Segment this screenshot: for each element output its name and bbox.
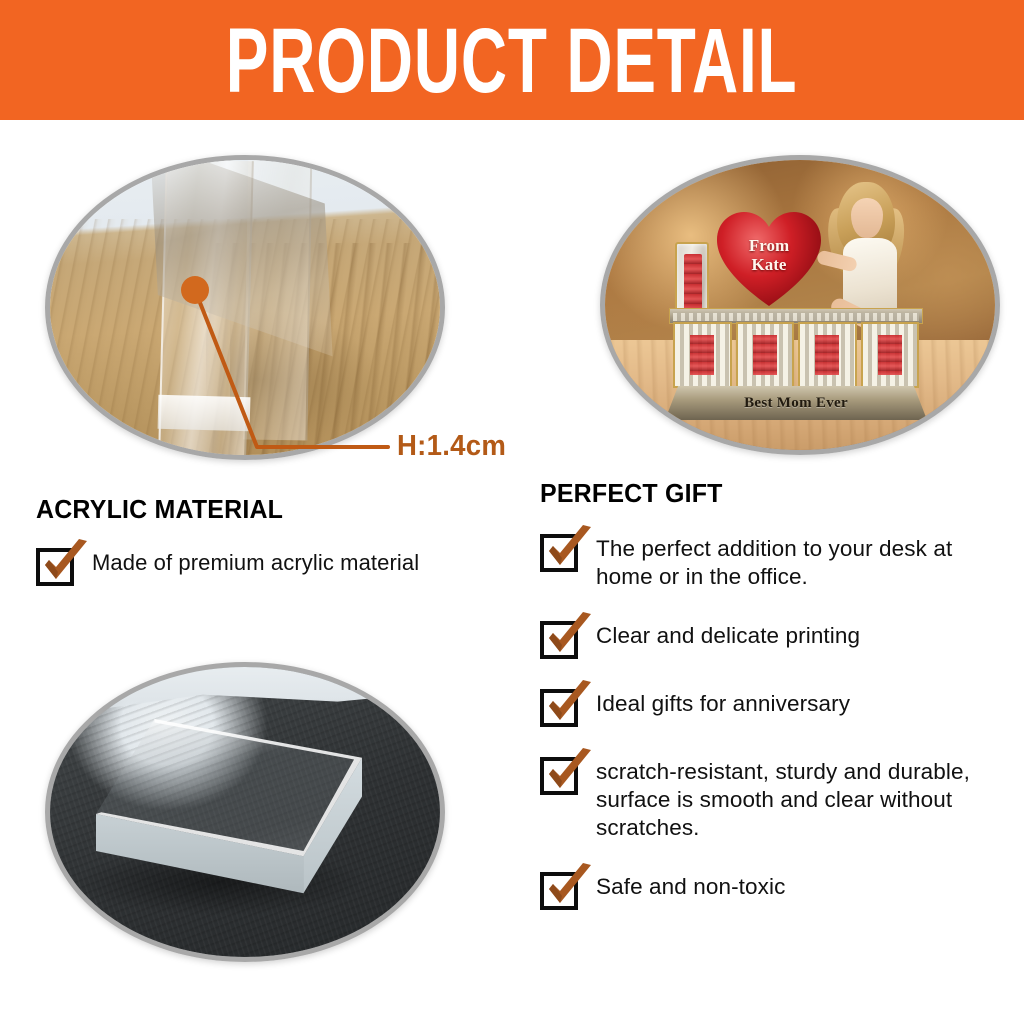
feature-text: scratch-resistant, sturdy and durable, s… bbox=[596, 755, 1000, 842]
page-header-banner: PRODUCT DETAIL bbox=[0, 0, 1024, 120]
feature-item: scratch-resistant, sturdy and durable, s… bbox=[540, 755, 1000, 842]
height-dimension-callout: H:1.4cm bbox=[140, 270, 540, 490]
feature-text: The perfect addition to your desk at hom… bbox=[596, 532, 1000, 591]
checkmark-icon bbox=[543, 612, 597, 662]
product-detail-page: PRODUCT DETAIL F bbox=[0, 0, 1024, 1024]
mama-letter-4: A bbox=[861, 322, 920, 388]
acrylic-material-heading: ACRYLIC MATERIAL bbox=[36, 494, 497, 524]
personalized-figurine-photo: From Kate M A bbox=[600, 155, 1000, 455]
heart-text-line-2: Kate bbox=[717, 255, 821, 274]
checkbox-checked[interactable] bbox=[540, 757, 578, 795]
page-title: PRODUCT DETAIL bbox=[226, 14, 798, 106]
checkmark-icon bbox=[543, 680, 597, 730]
feature-item: Safe and non-toxic bbox=[540, 870, 1000, 910]
checkbox-checked[interactable] bbox=[540, 689, 578, 727]
feature-item: Clear and delicate printing bbox=[540, 619, 1000, 659]
clear-acrylic-block bbox=[96, 719, 362, 895]
figurine-base-plate: Best Mom Ever bbox=[665, 386, 927, 420]
figurine-object: From Kate M A bbox=[665, 190, 927, 430]
acrylic-material-feature-list: Made of premium acrylic material bbox=[36, 546, 516, 586]
mama-letter-1: M bbox=[673, 322, 732, 388]
perfect-gift-section: PERFECT GIFT The perfect addition to you… bbox=[540, 478, 1000, 910]
feature-text: Made of premium acrylic material bbox=[92, 546, 419, 577]
callout-leader-line bbox=[195, 290, 388, 447]
figurine-mama-letters: M A M A bbox=[671, 322, 921, 388]
feature-text: Ideal gifts for anniversary bbox=[596, 687, 850, 718]
mama-letter-3: M bbox=[798, 322, 857, 388]
feature-item: Ideal gifts for anniversary bbox=[540, 687, 1000, 727]
perfect-gift-feature-list: The perfect addition to your desk at hom… bbox=[540, 532, 1000, 910]
checkmark-icon bbox=[543, 748, 597, 798]
heart-engraved-name: From Kate bbox=[717, 236, 821, 274]
perfect-gift-heading: PERFECT GIFT bbox=[540, 478, 982, 508]
mama-letter-2: A bbox=[736, 322, 795, 388]
height-dimension-label: H:1.4cm bbox=[397, 430, 506, 463]
checkmark-icon bbox=[543, 863, 597, 913]
checkbox-checked[interactable] bbox=[36, 548, 74, 586]
feature-text: Safe and non-toxic bbox=[596, 870, 785, 901]
feature-item: Made of premium acrylic material bbox=[36, 546, 516, 586]
acrylic-material-section: ACRYLIC MATERIAL Made of premium acrylic… bbox=[36, 494, 516, 586]
acrylic-block-on-slate-photo bbox=[45, 662, 445, 962]
base-plate-engraving: Best Mom Ever bbox=[744, 395, 848, 412]
checkmark-icon bbox=[39, 539, 93, 589]
checkbox-checked[interactable] bbox=[540, 621, 578, 659]
checkmark-icon bbox=[543, 525, 597, 575]
woman-face bbox=[851, 198, 883, 238]
heart-text-line-1: From bbox=[717, 236, 821, 255]
checkbox-checked[interactable] bbox=[540, 534, 578, 572]
feature-item: The perfect addition to your desk at hom… bbox=[540, 532, 1000, 591]
checkbox-checked[interactable] bbox=[540, 872, 578, 910]
figurine-heart-gem: From Kate bbox=[717, 212, 821, 308]
feature-text: Clear and delicate printing bbox=[596, 619, 860, 650]
callout-anchor-dot bbox=[181, 276, 209, 304]
